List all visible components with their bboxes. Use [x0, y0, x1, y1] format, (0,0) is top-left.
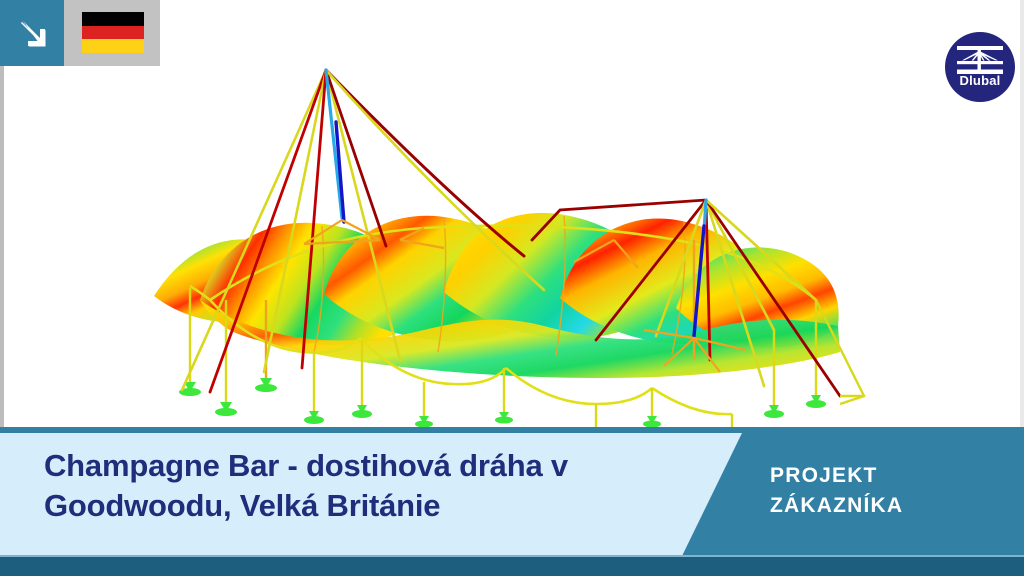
- flag-stripe-red: [82, 26, 144, 40]
- frame-right-border: [1020, 0, 1024, 433]
- arrow-down-right-icon: [16, 17, 48, 49]
- page-title: Champagne Bar - dostihová dráha v Goodwo…: [44, 446, 684, 526]
- flag-stripe-black: [82, 12, 144, 26]
- dlubal-wordmark: Dlubal: [945, 74, 1015, 88]
- slide-canvas: Dlubal Champagne Bar - dostihová dráha v…: [0, 0, 1024, 576]
- title-line-2: Goodwoodu, Velká Británie: [44, 486, 684, 526]
- title-line-1: Champagne Bar - dostihová dráha v: [44, 446, 684, 486]
- bottom-bar: [0, 557, 1024, 576]
- language-flag-box[interactable]: [64, 0, 160, 66]
- truss-frame-icon: [957, 46, 1003, 74]
- badge-line-1: PROJEKT: [770, 461, 903, 491]
- germany-flag-icon: [82, 12, 144, 53]
- language-badge[interactable]: [0, 0, 64, 66]
- badge-line-2: ZÁKAZNÍKA: [770, 491, 903, 521]
- flag-stripe-gold: [82, 39, 144, 53]
- project-badge-text: PROJEKT ZÁKAZNÍKA: [770, 461, 903, 521]
- dlubal-logo[interactable]: Dlubal: [945, 32, 1015, 102]
